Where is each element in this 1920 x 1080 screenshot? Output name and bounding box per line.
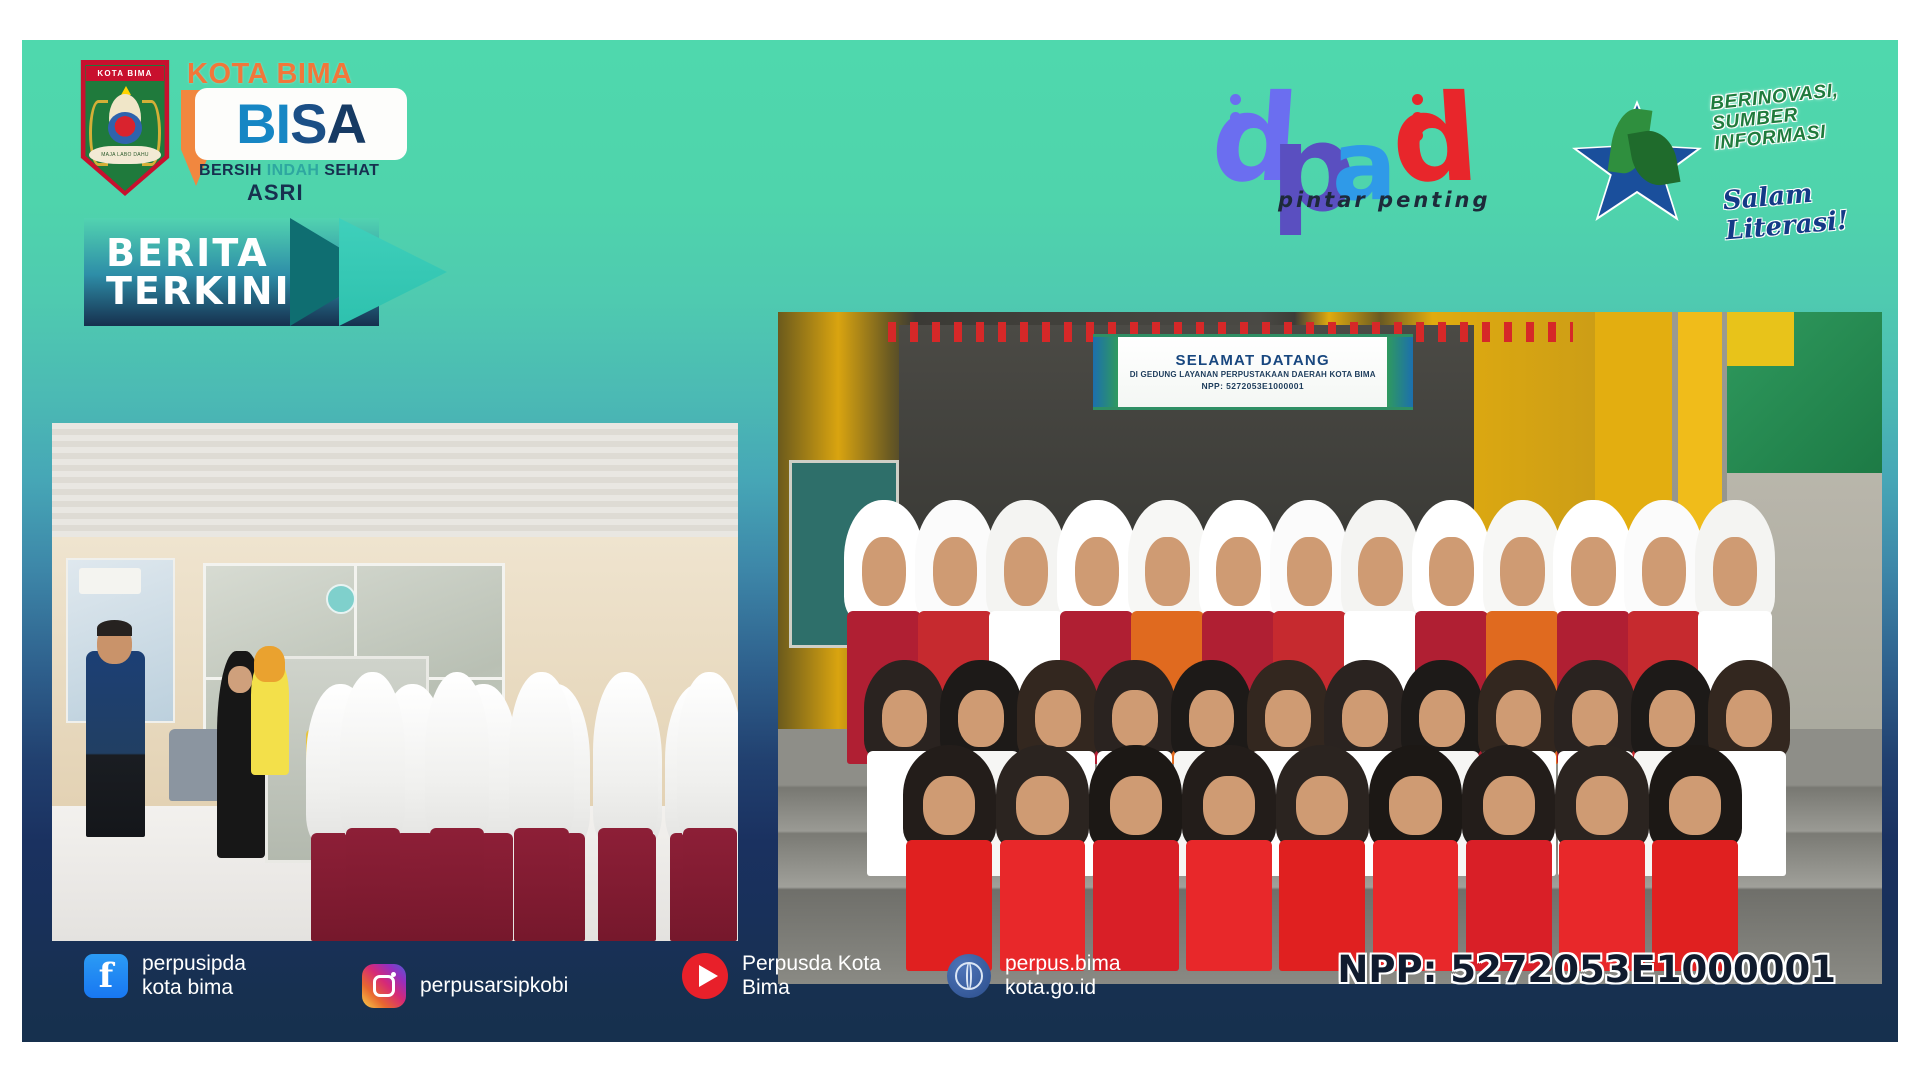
dpad-tagline: pintar penting [1278, 188, 1491, 212]
berita-line2: TERKINI [106, 272, 291, 310]
youtube-icon [682, 953, 728, 999]
dpad-letter-d2: d [1388, 80, 1482, 200]
bisa-letter-i: I [276, 92, 291, 155]
kota-bima-title: KOTA BIMA [187, 58, 353, 91]
facebook-label-line1: perpusipda [142, 952, 246, 976]
social-facebook[interactable]: f perpusipda kota bima [84, 952, 246, 999]
social-website[interactable]: perpus.bima kota.go.id [947, 952, 1121, 999]
kota-bima-bisa-logo: KOTA BIMA MAJA LABO DAHU KOTA BIMA BISA … [77, 56, 432, 196]
berita-terkini-banner: BERITA TERKINI [84, 218, 449, 326]
poster-canvas: KOTA BIMA MAJA LABO DAHU KOTA BIMA BISA … [22, 40, 1898, 1042]
photo-group-front-steps: SELAMAT DATANG DI GEDUNG LAYANAN PERPUST… [778, 312, 1882, 984]
welcome-title: SELAMAT DATANG [1176, 352, 1330, 369]
dpad-logo: d p a d pintar penting [1212, 88, 1502, 228]
instagram-label: perpusarsipkobi [420, 974, 568, 998]
footer-bar: f perpusipda kota bima perpusarsipkobi P… [22, 924, 1898, 1042]
welcome-npp: NPP: 5272053E1000001 [1201, 381, 1304, 391]
crest-ribbon-label: MAJA LABO DAHU [101, 152, 149, 158]
npp-number: NPP: 5272053E1000001 [1337, 948, 1836, 991]
selamat-datang-banner: SELAMAT DATANG DI GEDUNG LAYANAN PERPUST… [1093, 334, 1413, 411]
social-instagram[interactable]: perpusarsipkobi [362, 964, 568, 1008]
arrow-light-icon [339, 218, 447, 326]
crest-band-label: KOTA BIMA [97, 69, 152, 78]
youtube-label: Perpusda Kota Bima [742, 952, 881, 999]
literasi-slogan: BERINOVASI, SUMBER INFORMASI [1709, 78, 1874, 154]
photo-figure [340, 672, 405, 941]
tagline-bersih: BERSIH [199, 162, 262, 179]
photo-figure [509, 672, 574, 941]
tagline-sehat: SEHAT [324, 162, 379, 179]
website-label-line1: perpus.bima [1005, 952, 1121, 976]
photo-figure [677, 672, 738, 941]
facebook-label: perpusipda kota bima [142, 952, 246, 999]
facebook-label-line2: kota bima [142, 976, 246, 1000]
bisa-letter-s: S [290, 92, 326, 155]
website-label-line2: kota.go.id [1005, 976, 1121, 1000]
youtube-label-line2: Bima [742, 976, 881, 1000]
bisa-letter-a: A [326, 92, 365, 155]
berita-line1: BERITA [106, 234, 291, 272]
instagram-icon [362, 964, 406, 1008]
globe-icon [947, 954, 991, 998]
tagline-asri: ASRI [247, 180, 304, 206]
bisa-tagline: BERSIH INDAH SEHAT [199, 162, 379, 180]
website-label: perpus.bima kota.go.id [1005, 952, 1121, 999]
star-icon [1572, 100, 1702, 226]
kota-bima-crest-icon: KOTA BIMA MAJA LABO DAHU [77, 60, 173, 196]
photo-figure [425, 672, 490, 941]
salam-literasi-text: Salam Literasi! [1722, 174, 1875, 247]
instagram-label-line1: perpusarsipkobi [420, 974, 568, 998]
bisa-acronym-box: BISA [195, 88, 407, 160]
bisa-letter-b: B [236, 92, 275, 155]
tagline-indah: INDAH [267, 162, 320, 179]
welcome-subtitle: DI GEDUNG LAYANAN PERPUSTAKAAN DAERAH KO… [1130, 370, 1376, 379]
social-youtube[interactable]: Perpusda Kota Bima [682, 952, 881, 999]
photo-library-lobby [52, 423, 738, 941]
literasi-logo: BERINOVASI, SUMBER INFORMASI Salam Liter… [1572, 82, 1872, 232]
photo-figure [593, 672, 658, 941]
youtube-label-line1: Perpusda Kota [742, 952, 881, 976]
berita-terkini-text: BERITA TERKINI [106, 234, 291, 310]
facebook-icon: f [84, 954, 128, 998]
